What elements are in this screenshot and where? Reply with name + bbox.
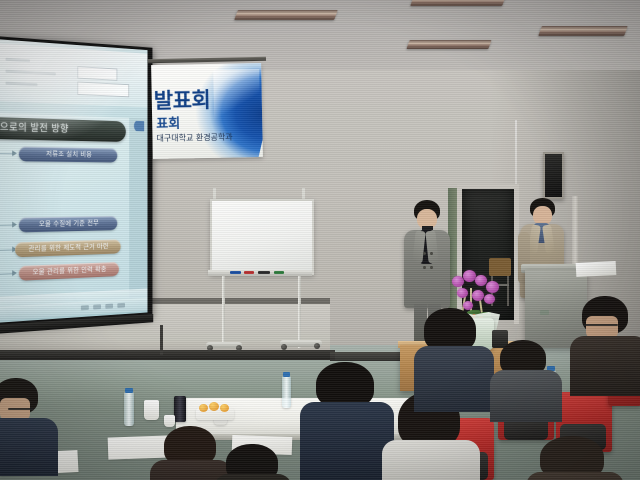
whiteboard-leg (298, 276, 301, 348)
lectern-paper (576, 261, 617, 277)
screen-glare (0, 39, 139, 151)
baseboard (0, 350, 335, 360)
slide-box: 오물 관리를 위한 인력 확충 (19, 262, 119, 281)
paper-cup (144, 400, 159, 420)
orchid-bloom (484, 294, 495, 304)
orchid-bloom (486, 281, 499, 293)
beverage-can (174, 396, 186, 422)
banner-headline: 발표회 (153, 84, 210, 115)
whiteboard-marker (258, 271, 270, 274)
slide-box: 오물 수질에 기준 전무 (19, 216, 118, 232)
whiteboard-leg (222, 276, 225, 348)
banner-affiliation: 대구대학교 환경공학과 (156, 132, 232, 144)
bottle-cap (283, 372, 290, 377)
whiteboard-marker (230, 271, 241, 274)
lectern-label (540, 310, 549, 315)
fruit-piece (220, 404, 229, 412)
whiteboard-marker (274, 271, 284, 274)
caster-wheel (281, 344, 287, 350)
bottle-cap (125, 388, 133, 393)
slide-box: 관리를 위한 제도적 근거 마련 (15, 239, 121, 257)
wall-speaker (543, 152, 564, 199)
water-bottle (124, 392, 134, 426)
caster-wheel (207, 345, 213, 351)
ceiling-light-fixture (538, 26, 628, 36)
ceiling-light-fixture (410, 0, 506, 6)
event-banner: 발표회 표회 대구대학교 환경공학과 (151, 63, 263, 159)
fruit-piece (209, 402, 219, 411)
ceiling-light-fixture (234, 10, 338, 20)
paper-cup (164, 415, 175, 427)
seminar-hall-photo: 으로의 발전 방향 저류조 설치 비용 오물 수질에 기준 전무 관리를 위한 … (0, 0, 640, 480)
caster-wheel (236, 345, 242, 351)
banner-subhead: 표회 (156, 113, 180, 132)
eyeglasses (584, 324, 618, 326)
whiteboard-marker (244, 271, 254, 274)
caster-wheel (314, 343, 320, 349)
screen-support-pole (160, 325, 163, 355)
orchid-bloom (472, 290, 484, 301)
ceiling-light-fixture (406, 40, 491, 49)
projection-screen: 으로의 발전 방향 저류조 설치 비용 오물 수질에 기준 전무 관리를 위한 … (0, 36, 154, 334)
orchid-bloom (452, 276, 464, 287)
water-bottle (282, 376, 291, 408)
fruit-piece (199, 404, 208, 412)
orchid-bloom (463, 301, 473, 310)
whiteboard-surface (210, 199, 314, 275)
screen-surface: 으로의 발전 방향 저류조 설치 비용 오물 수질에 기준 전무 관리를 위한 … (0, 39, 147, 323)
orchid-bloom (457, 288, 468, 298)
orchid-bloom (475, 275, 487, 286)
